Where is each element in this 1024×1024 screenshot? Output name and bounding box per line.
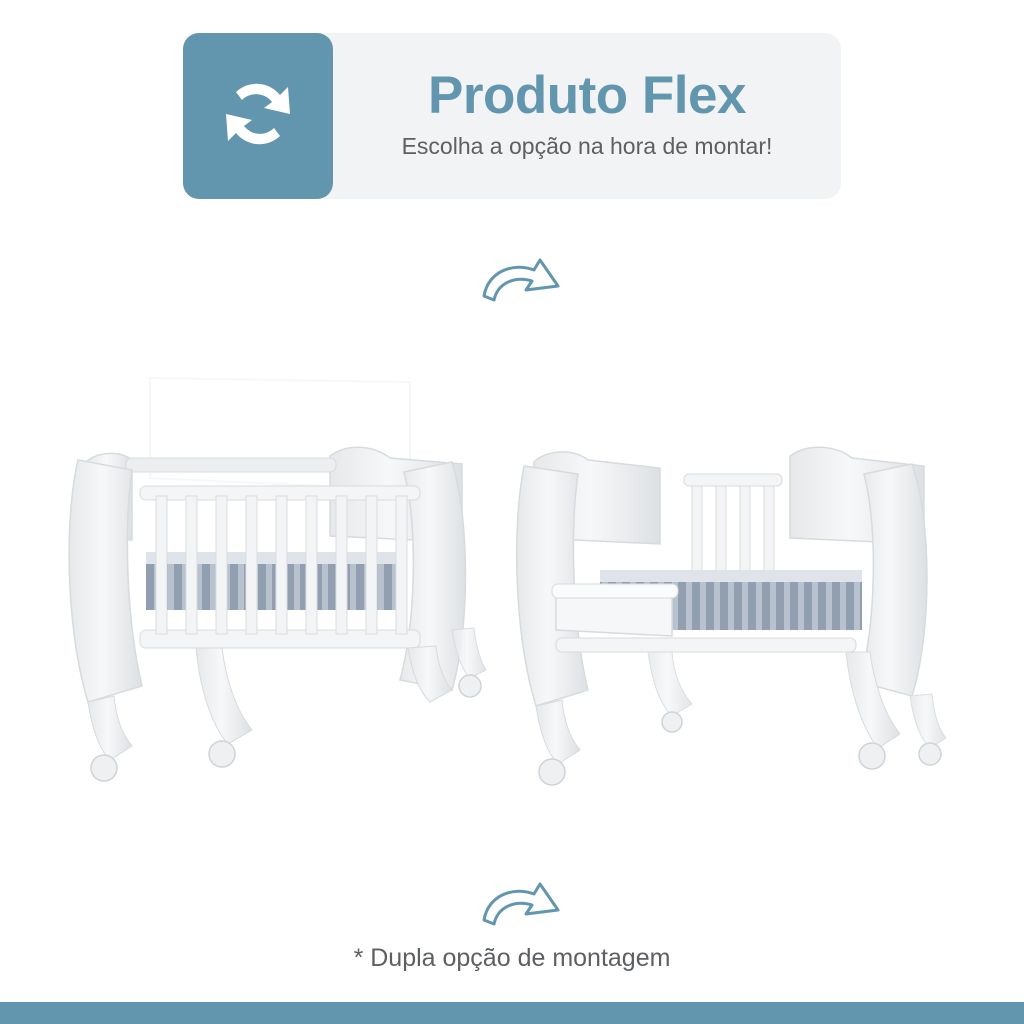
- assembly-caption: * Dupla opção de montagem: [0, 944, 1024, 973]
- badge-text-block: Produto Flex Escolha a opção na hora de …: [333, 68, 841, 165]
- curved-arrow-icon-top: [478, 256, 564, 312]
- footer-bar: [0, 1002, 1024, 1024]
- product-photo: [0, 330, 1024, 830]
- badge-title: Produto Flex: [428, 68, 746, 124]
- produto-flex-badge: Produto Flex Escolha a opção na hora de …: [183, 33, 841, 199]
- badge-icon-box: [183, 33, 333, 199]
- toddler-bed-assembly: [517, 447, 946, 785]
- crib-full-assembly: [69, 378, 486, 781]
- recycle-arrows-icon: [206, 62, 310, 171]
- curved-arrow-icon-bottom: [478, 880, 564, 936]
- badge-subtitle: Escolha a opção na hora de montar!: [402, 133, 773, 160]
